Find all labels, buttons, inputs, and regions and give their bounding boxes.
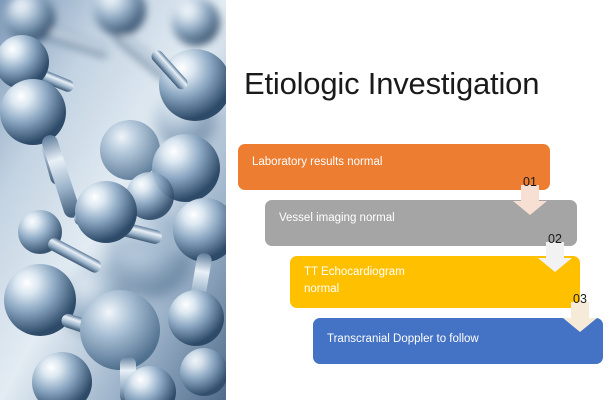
process-step-3-label-line-1: TT Echocardiogram: [304, 264, 566, 281]
step-number-badge-1: 01: [513, 175, 547, 190]
process-step-4[interactable]: Transcranial Doppler to follow: [313, 318, 603, 364]
process-step-3[interactable]: TT Echocardiogram normal: [290, 256, 580, 308]
connector-1: 01: [513, 175, 547, 215]
step-number-badge-2: 02: [538, 232, 572, 247]
molecule-illustration: [0, 0, 226, 400]
molecule-image: [0, 0, 226, 400]
process-step-3-label-line-2: normal: [304, 281, 566, 298]
step-number-badge-3: 03: [563, 292, 597, 307]
connector-3: 03: [563, 292, 597, 332]
process-step-1[interactable]: Laboratory results normal: [238, 144, 550, 190]
process-step-1-label: Laboratory results normal: [252, 154, 536, 171]
connector-2: 02: [538, 232, 572, 272]
process-step-4-label: Transcranial Doppler to follow: [327, 331, 589, 348]
slide: Etiologic Investigation Laboratory resul…: [0, 0, 610, 400]
page-title: Etiologic Investigation: [244, 64, 594, 104]
